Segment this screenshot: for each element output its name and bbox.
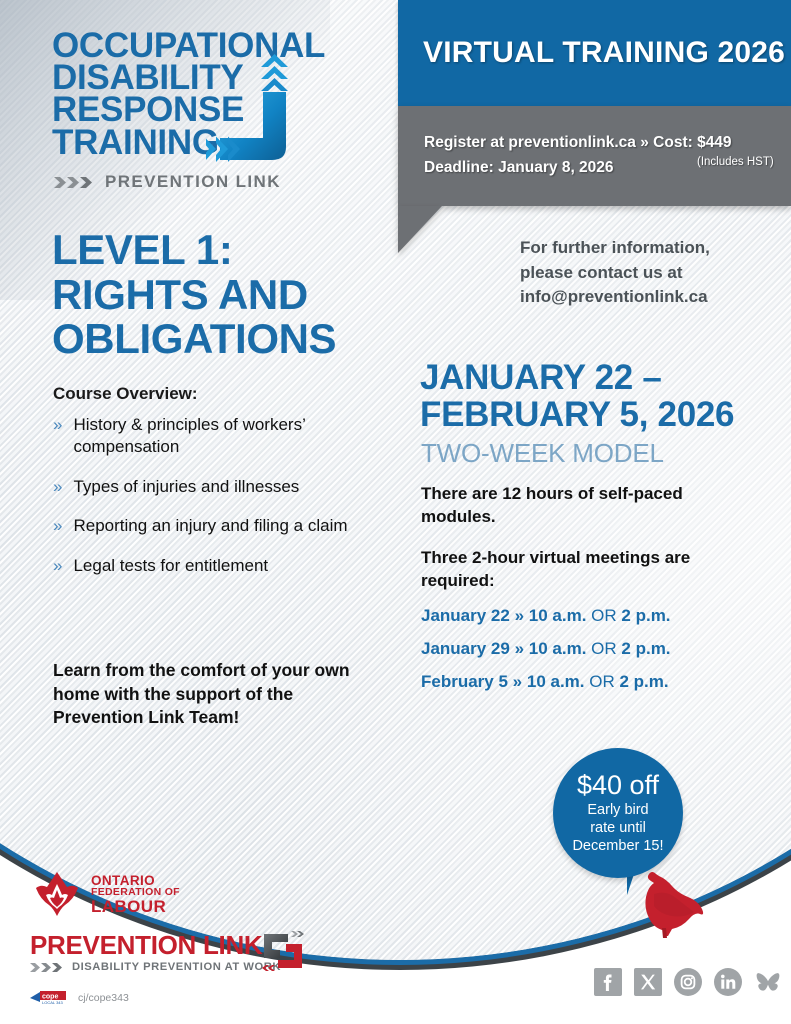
chevron-right-icon bbox=[54, 176, 98, 189]
callout-chevron-icon: » bbox=[640, 134, 649, 151]
deadline-text: Deadline: January 8, 2026 bbox=[424, 159, 614, 177]
prevention-link-tagline-row: DISABILITY PREVENTION AT WORK bbox=[30, 961, 290, 973]
promo-line-3: December 15! bbox=[572, 838, 663, 856]
session-time-2: 2 p.m. bbox=[621, 639, 670, 658]
list-item-label: History & principles of workers’ compens… bbox=[73, 414, 388, 459]
session-chevron-icon: » bbox=[515, 639, 524, 658]
course-overview-list: » History & principles of workers’ compe… bbox=[53, 414, 388, 594]
bullet-chevron-icon: » bbox=[53, 414, 62, 459]
registration-callout: Register at preventionlink.ca » Cost: $4… bbox=[398, 106, 791, 206]
prevention-link-tagline: DISABILITY PREVENTION AT WORK bbox=[72, 961, 281, 973]
odrt-logo-wordmark: OCCUPATIONAL DISABILITY RESPONSE TRAININ… bbox=[52, 30, 352, 159]
bluesky-icon[interactable] bbox=[754, 968, 782, 996]
registration-line: Register at preventionlink.ca » Cost: $4… bbox=[424, 134, 732, 152]
ofl-wordmark: ONTARIO FEDERATION OF LABOUR bbox=[91, 874, 180, 915]
instagram-icon[interactable] bbox=[674, 968, 702, 996]
ontario-federation-of-labour-logo: ONTARIO FEDERATION OF LABOUR bbox=[33, 868, 203, 920]
hst-note: (Includes HST) bbox=[697, 156, 774, 168]
banner-title: VIRTUAL TRAINING 2026 bbox=[423, 36, 785, 70]
facebook-icon[interactable] bbox=[594, 968, 622, 996]
ofl-trillium-icon bbox=[33, 870, 81, 918]
session-time-1: 10 a.m. bbox=[529, 606, 587, 625]
session-chevron-icon: » bbox=[515, 606, 524, 625]
promo-line-1: Early bird bbox=[587, 802, 648, 820]
linkedin-icon[interactable] bbox=[714, 968, 742, 996]
bullet-chevron-icon: » bbox=[53, 515, 62, 537]
logo-line-4: TRAINING bbox=[52, 127, 352, 159]
self-paced-hours-text: There are 12 hours of self-paced modules… bbox=[421, 482, 721, 529]
list-item: » Reporting an injury and filing a claim bbox=[53, 515, 388, 537]
list-item: February 5 » 10 a.m. OR 2 p.m. bbox=[421, 672, 761, 692]
session-date: January 29 bbox=[421, 639, 510, 658]
list-item: » Legal tests for entitlement bbox=[53, 555, 388, 577]
list-item: January 22 » 10 a.m. OR 2 p.m. bbox=[421, 606, 761, 626]
session-time-2: 2 p.m. bbox=[621, 606, 670, 625]
logo-subtitle-row: PREVENTION LINK bbox=[54, 172, 281, 192]
level-title-line-1: LEVEL 1: bbox=[52, 228, 392, 273]
x-twitter-icon[interactable] bbox=[634, 968, 662, 996]
logo-subtitle-text: PREVENTION LINK bbox=[105, 172, 281, 192]
logo-line-3: RESPONSE bbox=[52, 94, 352, 126]
promo-headline: $40 off bbox=[577, 771, 659, 799]
contact-info: For further information, please contact … bbox=[520, 236, 785, 310]
date-line-2: FEBRUARY 5, 2026 bbox=[420, 397, 790, 434]
prevention-link-logo: PREVENTION LINK DISABILITY PREVENTION AT… bbox=[30, 932, 290, 973]
ofl-line-3: LABOUR bbox=[91, 898, 180, 915]
ofl-line-2: FEDERATION OF bbox=[91, 887, 180, 898]
prevention-link-arrow-icon bbox=[206, 52, 292, 167]
level-title-line-3: OBLIGATIONS bbox=[52, 317, 392, 362]
list-item: » History & principles of workers’ compe… bbox=[53, 414, 388, 459]
session-time-2: 2 p.m. bbox=[620, 672, 669, 691]
course-model-subtitle: TWO-WEEK MODEL bbox=[421, 438, 664, 469]
level-title-line-2: RIGHTS AND bbox=[52, 273, 392, 318]
prevention-link-wordmark: PREVENTION LINK bbox=[30, 932, 290, 958]
list-item-label: Types of injuries and illnesses bbox=[73, 476, 299, 498]
page-title: LEVEL 1: RIGHTS AND OBLIGATIONS bbox=[52, 228, 392, 362]
early-bird-promo-badge: $40 off Early bird rate until December 1… bbox=[553, 748, 683, 878]
cope-union-logo-icon: cope LOCAL 343 bbox=[30, 990, 66, 1005]
list-item: » Types of injuries and illnesses bbox=[53, 476, 388, 498]
cost-text: Cost: $449 bbox=[653, 134, 731, 151]
register-text: Register at preventionlink.ca bbox=[424, 134, 636, 151]
contact-email[interactable]: info@preventionlink.ca bbox=[520, 285, 785, 310]
virtual-meetings-text: Three 2-hour virtual meetings are requir… bbox=[421, 546, 731, 593]
promo-line-2: rate until bbox=[590, 820, 646, 838]
session-schedule-list: January 22 » 10 a.m. OR 2 p.m. January 2… bbox=[421, 606, 761, 705]
virtual-training-banner: VIRTUAL TRAINING 2026 bbox=[398, 0, 791, 106]
prevention-link-g-icon bbox=[258, 930, 308, 972]
contact-line-2: please contact us at bbox=[520, 261, 785, 286]
chevron-right-icon bbox=[30, 962, 66, 973]
poster-canvas: OCCUPATIONAL DISABILITY RESPONSE TRAININ… bbox=[0, 0, 791, 1024]
course-date-range: JANUARY 22 – FEBRUARY 5, 2026 bbox=[420, 360, 790, 434]
session-or: OR bbox=[591, 606, 617, 625]
session-chevron-icon: » bbox=[513, 672, 522, 691]
cope-footer: cope LOCAL 343 cj/cope343 bbox=[30, 990, 129, 1005]
session-or: OR bbox=[589, 672, 615, 691]
bullet-chevron-icon: » bbox=[53, 555, 62, 577]
ofl-line-1: ONTARIO bbox=[91, 874, 180, 888]
date-line-1: JANUARY 22 – bbox=[420, 360, 790, 397]
contact-line-1: For further information, bbox=[520, 236, 785, 261]
session-time-1: 10 a.m. bbox=[527, 672, 585, 691]
course-overview-label: Course Overview: bbox=[53, 384, 198, 404]
learn-from-home-text: Learn from the comfort of your own home … bbox=[53, 659, 363, 730]
social-links bbox=[594, 968, 782, 996]
list-item-label: Legal tests for entitlement bbox=[73, 555, 268, 577]
bullet-chevron-icon: » bbox=[53, 476, 62, 498]
cope-text: cj/cope343 bbox=[78, 992, 129, 1004]
list-item: January 29 » 10 a.m. OR 2 p.m. bbox=[421, 639, 761, 659]
list-item-label: Reporting an injury and filing a claim bbox=[73, 515, 347, 537]
session-or: OR bbox=[591, 639, 617, 658]
session-date: February 5 bbox=[421, 672, 508, 691]
session-date: January 22 bbox=[421, 606, 510, 625]
svg-text:LOCAL 343: LOCAL 343 bbox=[42, 1000, 64, 1005]
callout-tail bbox=[398, 206, 486, 253]
odrt-logo: OCCUPATIONAL DISABILITY RESPONSE TRAININ… bbox=[52, 30, 352, 159]
red-bird-icon bbox=[632, 868, 712, 943]
session-time-1: 10 a.m. bbox=[529, 639, 587, 658]
